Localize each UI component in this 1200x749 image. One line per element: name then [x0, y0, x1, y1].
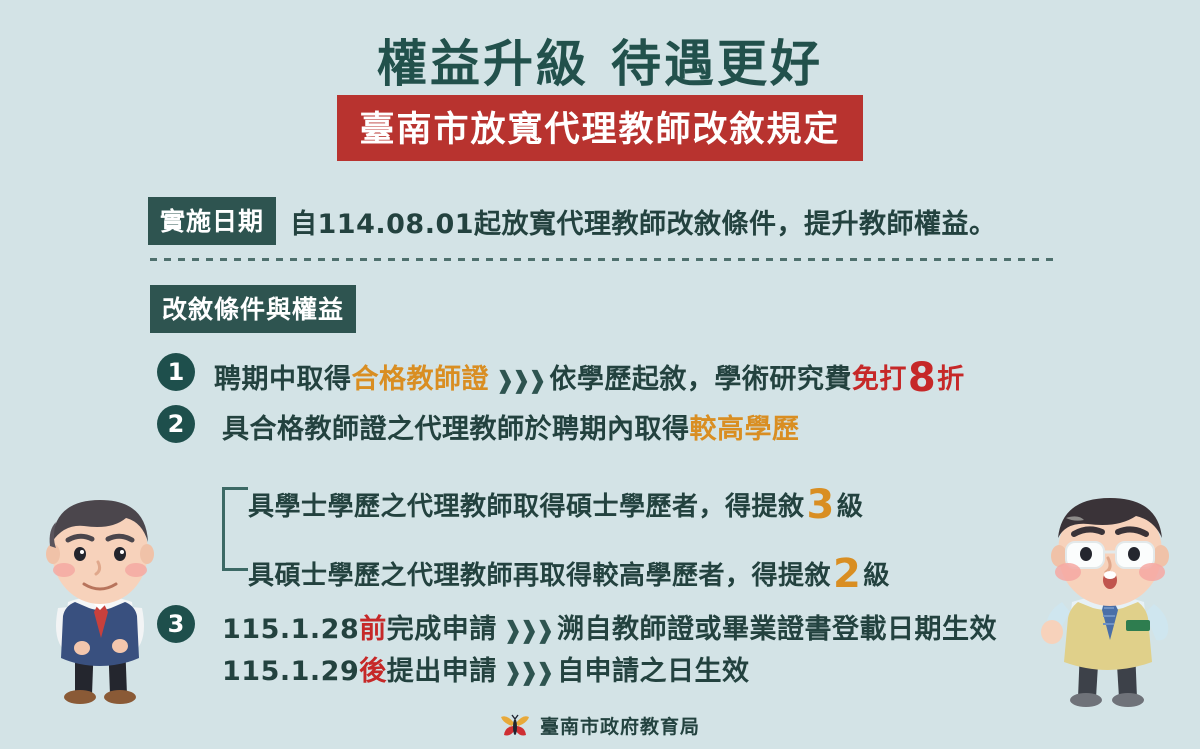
item-2-text: 具合格教師證之代理教師於聘期內取得較高學歷: [222, 407, 800, 446]
infographic-canvas: 權益升級待遇更好 臺南市放寬代理教師改敘規定 實施日期 自114.08.01起放…: [0, 0, 1200, 749]
item-3-line2-c: 自申請之日生效: [557, 656, 750, 687]
item-1-text: 聘期中取得合格教師證❱❱❱依學歷起敘，學術研究費免打8折: [214, 355, 965, 401]
headline-part2: 待遇更好: [611, 35, 823, 93]
sub-item-2-text-a: 具碩士學歷之代理教師再取得較高學歷者，得提敘: [248, 561, 831, 591]
item-3-line1-date: 115.1.28: [222, 614, 359, 645]
item-3-line1-red: 前: [359, 614, 387, 645]
sub-item-2: 具碩士學歷之代理教師再取得較高學歷者，得提敘2級: [248, 551, 890, 597]
item-3-line2-b: 提出申請: [387, 656, 497, 687]
footer: 臺南市政府教育局: [0, 712, 1200, 739]
sub-items-bracket: [222, 487, 248, 571]
footer-org-name: 臺南市政府教育局: [540, 712, 700, 739]
section-chip-conditions: 改敘條件與權益: [150, 285, 356, 333]
item-1-highlight-red-tail: 折: [937, 364, 965, 395]
implementation-date-text: 自114.08.01起放寬代理教師改敘條件，提升教師權益。: [290, 202, 997, 241]
item-3-line2-date: 115.1.29: [222, 656, 359, 687]
sub-item-2-text-b: 級: [863, 561, 890, 591]
chevron-arrow-icon: ❱❱❱: [489, 366, 549, 394]
item-1-text-b: 依學歷起敘，學術研究費: [549, 364, 852, 395]
item-2-text-a: 具合格教師證之代理教師於聘期內取得: [222, 414, 690, 445]
item-3-line-2: 115.1.29後提出申請❱❱❱自申請之日生效: [222, 649, 750, 688]
sub-item-2-big-number: 2: [831, 551, 863, 597]
item-1-big-number: 8: [907, 355, 937, 401]
mayor-character-illustration: [20, 490, 180, 740]
subtitle-banner: 臺南市放寬代理教師改敘規定: [337, 95, 862, 161]
implementation-date-row: 實施日期 自114.08.01起放寬代理教師改敘條件，提升教師權益。: [148, 197, 997, 245]
item-3-line-1: 115.1.28前完成申請❱❱❱溯自教師證或畢業證書登載日期生效: [222, 607, 997, 646]
sub-item-1-text-b: 級: [837, 492, 864, 522]
sub-item-1-big-number: 3: [805, 482, 837, 528]
right-character-body: [1041, 498, 1169, 707]
item-number-1: 1: [157, 353, 195, 391]
item-1-highlight-red: 免打: [852, 364, 907, 395]
butterfly-logo-icon: [500, 713, 530, 739]
chevron-arrow-icon: ❱❱❱: [497, 616, 557, 644]
dashed-divider: [150, 258, 1060, 261]
implementation-date-chip: 實施日期: [148, 197, 276, 245]
sub-item-1: 具學士學歷之代理教師取得碩士學歷者，得提敘3級: [248, 482, 863, 528]
page-title: 權益升級待遇更好: [0, 24, 1200, 96]
item-number-2: 2: [157, 405, 195, 443]
official-character-illustration: [1020, 490, 1200, 740]
item-3-line1-c: 溯自教師證或畢業證書登載日期生效: [557, 614, 997, 645]
headline-part1: 權益升級: [377, 35, 589, 93]
item-3-line2-red: 後: [359, 656, 387, 687]
banner-wrap: 臺南市放寬代理教師改敘規定: [0, 95, 1200, 161]
left-character-body: [46, 500, 154, 704]
item-1-text-a: 聘期中取得: [214, 364, 352, 395]
item-1-highlight-orange: 合格教師證: [352, 364, 490, 395]
chevron-arrow-icon: ❱❱❱: [497, 658, 557, 686]
item-2-highlight-orange: 較高學歷: [690, 414, 800, 445]
item-3-line1-b: 完成申請: [387, 614, 497, 645]
sub-item-1-text-a: 具學士學歷之代理教師取得碩士學歷者，得提敘: [248, 492, 805, 522]
